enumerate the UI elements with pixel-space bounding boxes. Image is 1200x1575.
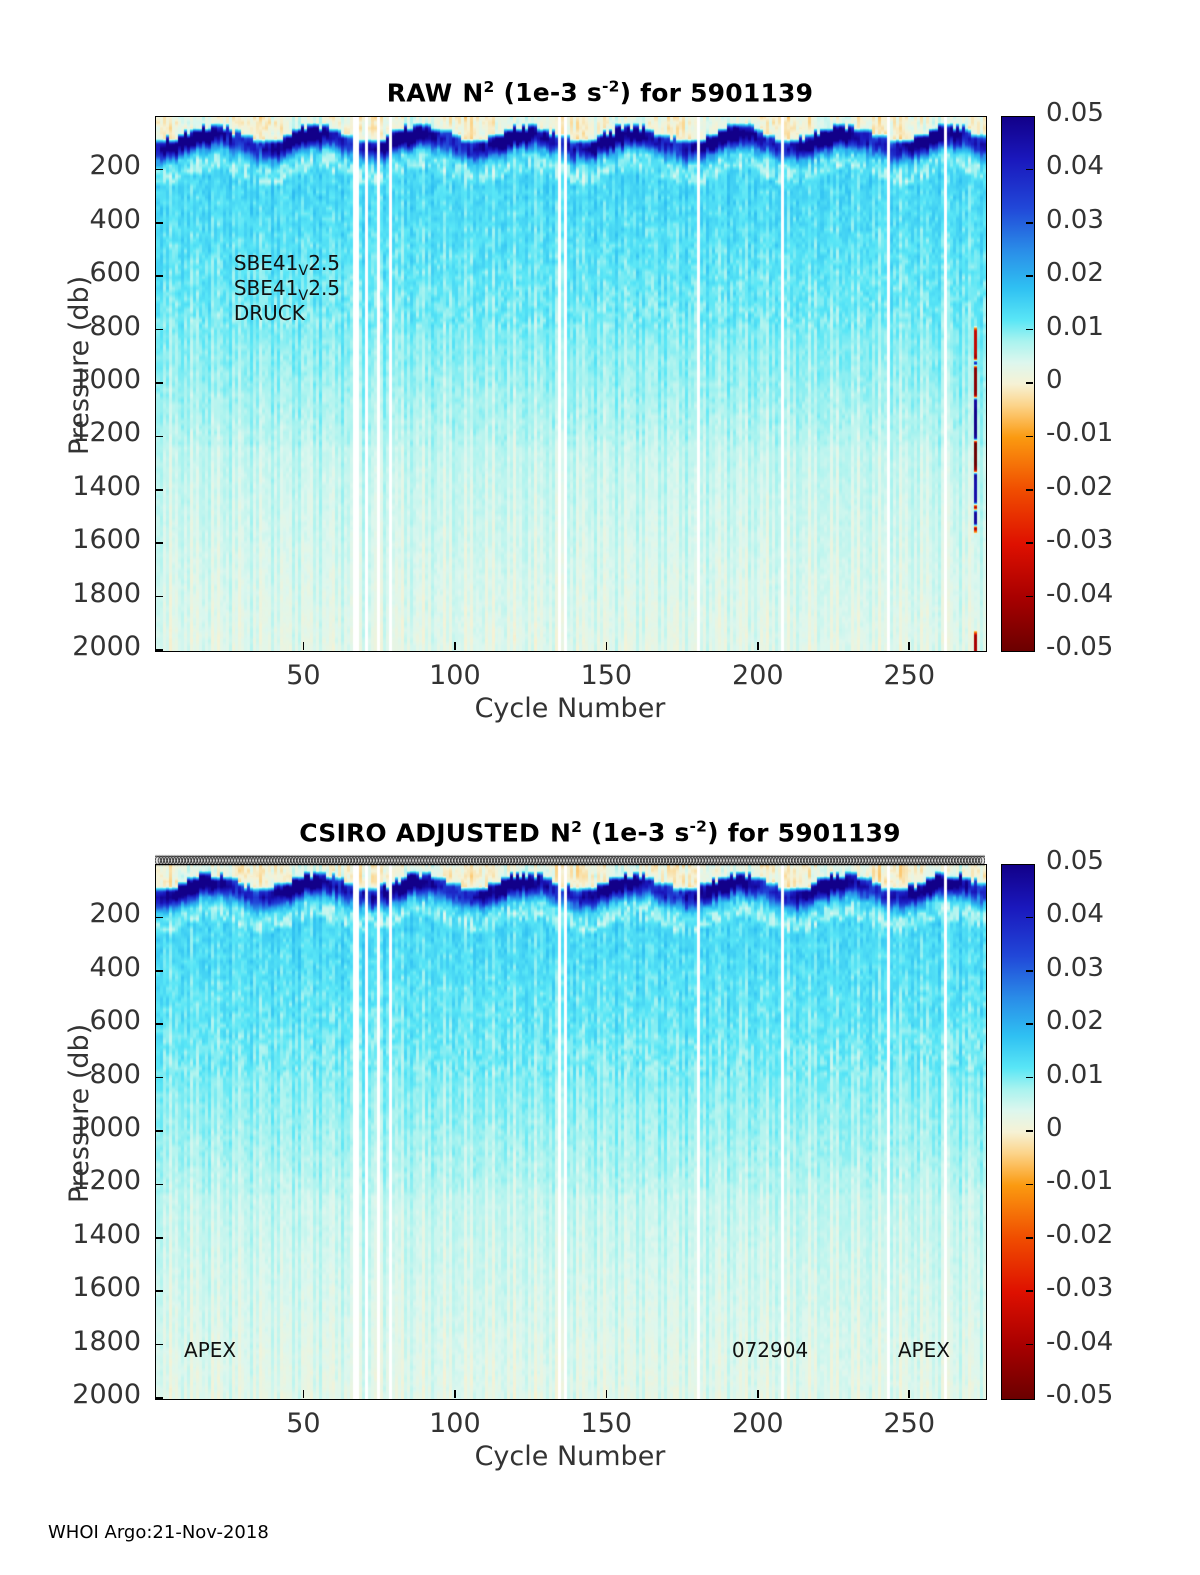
x-tickmark-raw-100 [454, 642, 456, 650]
y-tick-raw-1400: 1400 [13, 471, 141, 502]
colorbar-tick-adjusted--0.03: -0.03 [1046, 1273, 1113, 1303]
x-tickmark-raw-250 [908, 642, 910, 650]
colorbar-tick-raw-0.01: 0.01 [1046, 312, 1104, 342]
colorbar-tickmark-raw-0.02 [1026, 275, 1033, 277]
y-tickmark-raw-1200 [155, 436, 163, 438]
colorbar-tick-raw--0.01: -0.01 [1046, 418, 1113, 448]
colorbar-tick-adjusted-0.04: 0.04 [1046, 899, 1104, 929]
colorbar-tick-raw-0.02: 0.02 [1046, 258, 1104, 288]
colorbar-tick-adjusted--0.02: -0.02 [1046, 1220, 1113, 1250]
figure-footer: WHOI Argo:21-Nov-2018 [48, 1522, 269, 1543]
sensor-sbe41-line2: SBE41V2.5 [234, 276, 340, 304]
x-tick-adjusted-200: 200 [708, 1408, 808, 1439]
sensor-sbe41-line1: SBE41V2.5 [234, 251, 340, 279]
sensor-druck: DRUCK [234, 301, 305, 325]
colorbar-tick-adjusted-0.02: 0.02 [1046, 1006, 1104, 1036]
y-tick-raw-1800: 1800 [13, 578, 141, 609]
x-axis-label-adjusted: Cycle Number [155, 1441, 985, 1472]
y-tick-raw-200: 200 [13, 150, 141, 181]
colorbar-tick-adjusted-0: 0 [1046, 1113, 1063, 1143]
heatmap-axes-adjusted [155, 864, 987, 1400]
colorbar-tick-adjusted--0.01: -0.01 [1046, 1166, 1113, 1196]
x-tickmark-adjusted-50 [303, 1390, 305, 1398]
y-tick-adjusted-400: 400 [13, 952, 141, 983]
title-prefix-raw: RAW [387, 78, 453, 107]
colorbar-tick-adjusted--0.05: -0.05 [1046, 1380, 1113, 1410]
platform-type-right-text: APEX [898, 1338, 950, 1362]
y-tick-raw-400: 400 [13, 204, 141, 235]
colorbar-tickmark-adjusted--0.01 [1026, 1184, 1033, 1186]
colorbar-tick-raw-0.04: 0.04 [1046, 151, 1104, 181]
wmo-serial: 072904 [732, 1338, 808, 1362]
x-tick-raw-50: 50 [253, 660, 353, 691]
y-tick-adjusted-1600: 1600 [13, 1272, 141, 1303]
sensor-sbe41-line2-text: SBE41 [234, 276, 299, 300]
x-tick-raw-150: 150 [556, 660, 656, 691]
colorbar-tickmark-adjusted-0.01 [1026, 1077, 1033, 1079]
y-tick-raw-1200: 1200 [13, 417, 141, 448]
y-tickmark-adjusted-200 [155, 917, 163, 919]
colorbar-tick-raw--0.03: -0.03 [1046, 525, 1113, 555]
y-tick-adjusted-2000: 2000 [13, 1379, 141, 1410]
y-tickmark-adjusted-1000 [155, 1130, 163, 1132]
y-tickmark-adjusted-600 [155, 1023, 163, 1025]
colorbar-tickmark-adjusted--0.02 [1026, 1237, 1033, 1239]
colorbar-tick-adjusted--0.04: -0.04 [1046, 1327, 1113, 1357]
colorbar-tickmark-adjusted--0.03 [1026, 1290, 1033, 1292]
title-floatid-adjusted: 5901139 [778, 818, 901, 847]
y-tick-raw-2000: 2000 [13, 631, 141, 662]
x-axis-label-raw: Cycle Number [155, 693, 985, 724]
colorbar-tickmark-raw--0.03 [1026, 542, 1033, 544]
y-tickmark-raw-1000 [155, 382, 163, 384]
x-tickmark-adjusted-150 [606, 1390, 608, 1398]
y-tick-adjusted-800: 800 [13, 1059, 141, 1090]
colorbar-tickmark-adjusted-0 [1026, 1130, 1033, 1132]
wmo-serial-text: 072904 [732, 1338, 808, 1362]
colorbar-tickmark-raw--0.01 [1026, 436, 1033, 438]
y-tick-adjusted-1400: 1400 [13, 1219, 141, 1250]
colorbar-tickmark-raw-0 [1026, 382, 1033, 384]
y-tickmark-raw-2000 [155, 649, 163, 651]
y-tickmark-raw-1600 [155, 542, 163, 544]
colorbar-raw [1001, 116, 1035, 652]
sensor-sbe41-line2-text-b: 2.5 [308, 276, 340, 300]
y-tick-adjusted-1200: 1200 [13, 1165, 141, 1196]
x-tickmark-raw-150 [606, 642, 608, 650]
x-tick-raw-250: 250 [859, 660, 959, 691]
x-tick-adjusted-50: 50 [253, 1408, 353, 1439]
colorbar-tickmark-raw--0.04 [1026, 596, 1033, 598]
y-tick-adjusted-200: 200 [13, 898, 141, 929]
y-tickmark-raw-1800 [155, 596, 163, 598]
colorbar-tick-raw-0.03: 0.03 [1046, 205, 1104, 235]
colorbar-tickmark-adjusted-0.03 [1026, 970, 1033, 972]
colorbar-tick-raw-0: 0 [1046, 365, 1063, 395]
colorbar-tick-raw--0.02: -0.02 [1046, 472, 1113, 502]
x-tick-raw-100: 100 [405, 660, 505, 691]
y-tickmark-adjusted-1200 [155, 1184, 163, 1186]
platform-type-left-text: APEX [184, 1338, 236, 1362]
y-tickmark-raw-600 [155, 275, 163, 277]
y-tickmark-raw-200 [155, 169, 163, 171]
y-tickmark-raw-800 [155, 329, 163, 331]
x-tickmark-raw-200 [757, 642, 759, 650]
x-tickmark-raw-50 [303, 642, 305, 650]
cycle-marker-row [155, 854, 985, 867]
colorbar-tick-adjusted-0.03: 0.03 [1046, 953, 1104, 983]
y-tick-raw-800: 800 [13, 311, 141, 342]
colorbar-tickmark-raw-0.01 [1026, 329, 1033, 331]
title-variable-exp-adjusted: 2 [571, 818, 582, 836]
platform-type-right: APEX [898, 1338, 950, 1362]
platform-type-left: APEX [184, 1338, 236, 1362]
colorbar-tickmark-adjusted-0.04 [1026, 917, 1033, 919]
colorbar-tickmark-raw-0.04 [1026, 169, 1033, 171]
x-tick-adjusted-150: 150 [556, 1408, 656, 1439]
colorbar-tickmark-raw-0.03 [1026, 222, 1033, 224]
colorbar-tick-raw--0.04: -0.04 [1046, 579, 1113, 609]
colorbar-tick-raw--0.05: -0.05 [1046, 632, 1113, 662]
y-tickmark-adjusted-800 [155, 1077, 163, 1079]
y-tick-raw-600: 600 [13, 257, 141, 288]
colorbar-tick-raw-0.05: 0.05 [1046, 98, 1104, 128]
x-tick-adjusted-100: 100 [405, 1408, 505, 1439]
y-tick-adjusted-1000: 1000 [13, 1112, 141, 1143]
colorbar-tickmark-raw--0.02 [1026, 489, 1033, 491]
heatmap-canvas-adjusted [156, 865, 986, 1399]
y-tick-adjusted-1800: 1800 [13, 1326, 141, 1357]
colorbar-adjusted [1001, 864, 1035, 1400]
colorbar-tick-adjusted-0.05: 0.05 [1046, 846, 1104, 876]
title-variable-exp-raw: 2 [484, 78, 495, 96]
x-tickmark-adjusted-250 [908, 1390, 910, 1398]
y-tickmark-adjusted-2000 [155, 1397, 163, 1399]
heatmap-canvas-raw [156, 117, 986, 651]
title-variable-adjusted: N [550, 818, 571, 847]
y-tickmark-raw-1400 [155, 489, 163, 491]
title-for-raw: for [640, 78, 681, 107]
x-tickmark-adjusted-100 [454, 1390, 456, 1398]
y-tickmark-raw-400 [155, 222, 163, 224]
colorbar-tick-adjusted-0.01: 0.01 [1046, 1060, 1104, 1090]
y-tickmark-adjusted-1800 [155, 1344, 163, 1346]
y-tickmark-adjusted-1600 [155, 1290, 163, 1292]
title-floatid-raw: 5901139 [690, 78, 813, 107]
y-tick-raw-1600: 1600 [13, 524, 141, 555]
x-tick-adjusted-250: 250 [859, 1408, 959, 1439]
title-units-adjusted: (1e-3 s-2) [591, 818, 719, 847]
x-tick-raw-200: 200 [708, 660, 808, 691]
colorbar-tickmark-adjusted-0.02 [1026, 1023, 1033, 1025]
x-tickmark-adjusted-200 [757, 1390, 759, 1398]
sensor-sbe41-line1-text: SBE41 [234, 251, 299, 275]
title-prefix-adjusted: CSIRO ADJUSTED [299, 818, 540, 847]
colorbar-tickmark-adjusted--0.04 [1026, 1344, 1033, 1346]
heatmap-axes-raw [155, 116, 987, 652]
plot-title-raw: RAWN2 (1e-3 s-2) for 5901139 [0, 78, 1200, 107]
sensor-druck-text: DRUCK [234, 301, 305, 325]
y-tickmark-adjusted-1400 [155, 1237, 163, 1239]
title-for-adjusted: for [728, 818, 769, 847]
title-variable-raw: N [462, 78, 483, 107]
plot-title-adjusted: CSIRO ADJUSTEDN2 (1e-3 s-2) for 5901139 [0, 818, 1200, 847]
sensor-sbe41-line1-text-b: 2.5 [308, 251, 340, 275]
y-tick-raw-1000: 1000 [13, 364, 141, 395]
y-tickmark-adjusted-400 [155, 970, 163, 972]
y-tick-adjusted-600: 600 [13, 1005, 141, 1036]
title-units-raw: (1e-3 s-2) [503, 78, 631, 107]
